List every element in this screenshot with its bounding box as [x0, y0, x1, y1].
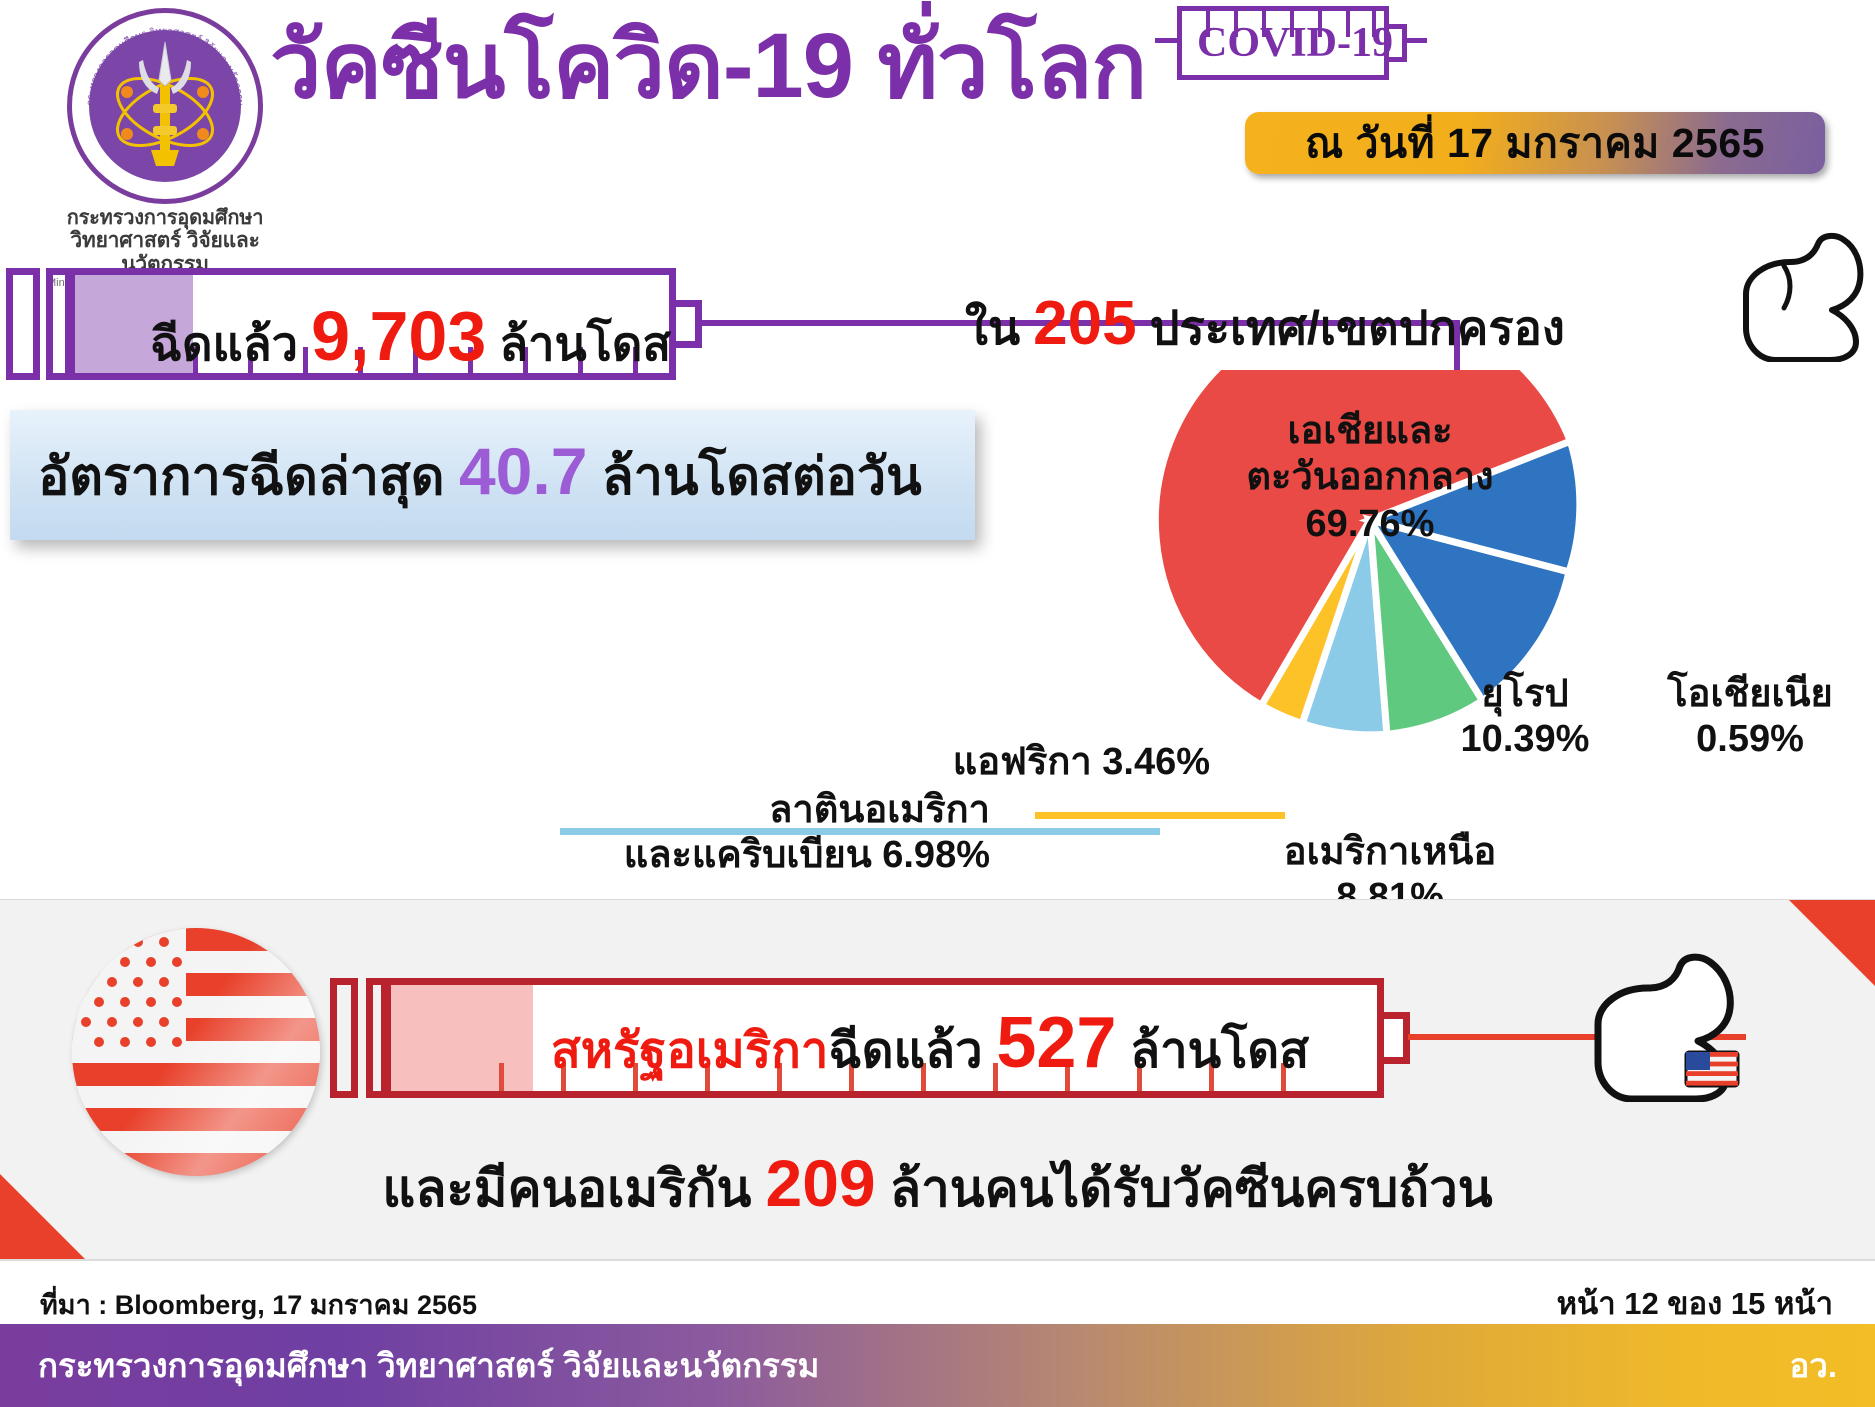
page-title: วัคซีนโควิด-19 ทั่วโลก: [270, 20, 1146, 112]
usa-doses-number: 527: [996, 1003, 1116, 1083]
pie-latam-line1: ลาตินอเมริกา: [530, 788, 990, 833]
footer-bar: กระทรวงการอุดมศึกษา วิทยาศาสตร์ วิจัยและ…: [0, 1324, 1875, 1407]
footer-bar-left-label: กระทรวงการอุดมศึกษา วิทยาศาสตร์ วิจัยและ…: [38, 1339, 819, 1392]
usa-syringe-plunger-flange-icon: [330, 978, 358, 1098]
pie-europe-name: ยุโรป: [1425, 672, 1625, 717]
countries-number: 205: [1033, 289, 1136, 358]
usa-doses-text: สหรัฐอเมริกาฉีดแล้ว 527 ล้านโดส: [480, 1002, 1380, 1089]
usa-doses-prefix: ฉีดแล้ว: [828, 1024, 982, 1078]
usa-fully-vaccinated-text: และมีคนอเมริกัน 209 ล้านคนได้รับวัคซีนคร…: [0, 1145, 1875, 1229]
pie-north-america-name: อเมริกาเหนือ: [1255, 830, 1525, 875]
ministry-seal-icon: กระทรวงการอุดมศึกษา วิทยาศาสตร์ วิจัยและ…: [67, 8, 263, 204]
pie-africa-leader-line: [1035, 812, 1285, 819]
usa-doses-suffix: ล้านโดส: [1130, 1024, 1309, 1078]
rate-prefix: อัตราการฉีดล่าสุด: [38, 448, 445, 506]
usa-flag-icon: [72, 928, 320, 1176]
rate-number: 40.7: [459, 434, 587, 508]
page-number: หน้า 12 ของ 15 หน้า: [1557, 1278, 1833, 1328]
infographic-page: กระทรวงการอุดมศึกษา วิทยาศาสตร์ วิจัยและ…: [0, 0, 1875, 1407]
usa-country-label: สหรัฐอเมริกา: [551, 1024, 829, 1078]
source-text: ที่มา : Bloomberg, 17 มกราคม 2565: [40, 1283, 477, 1326]
pie-europe-label: ยุโรป 10.39%: [1425, 672, 1625, 762]
pie-asia-line2: ตะวันออกกลาง: [1205, 454, 1535, 500]
global-doses-text: ฉีดแล้ว 9,703 ล้านโดส: [150, 296, 670, 381]
pie-asia-label: เอเชียและ ตะวันออกกลาง 69.76%: [1205, 408, 1535, 547]
countries-suffix: ประเทศ/เขตปกครอง: [1150, 301, 1565, 354]
vaccination-rate-box: อัตราการฉีดล่าสุด 40.7 ล้านโดสต่อวัน: [10, 410, 975, 540]
pie-asia-line1: เอเชียและ: [1205, 408, 1535, 454]
global-doses-suffix: ล้านโดส: [499, 317, 671, 370]
pie-asia-value: 69.76%: [1205, 501, 1535, 547]
countries-text: ใน 205 ประเทศ/เขตปกครอง: [965, 288, 1565, 365]
countries-prefix: ใน: [965, 301, 1020, 354]
pie-europe-value: 10.39%: [1425, 717, 1625, 762]
pie-oceania-name: โอเชียเนีย: [1645, 672, 1855, 717]
pie-latam-line2: และแคริบเบียน 6.98%: [530, 833, 990, 878]
usa-fully-prefix: และมีคนอเมริกัน: [382, 1160, 751, 1217]
corner-accent-top-right: [1789, 900, 1875, 986]
usa-fully-suffix: ล้านคนได้รับวัคซีนครบถ้วน: [890, 1160, 1493, 1217]
global-doses-number: 9,703: [311, 297, 486, 375]
usa-doses-syringe: สหรัฐอเมริกาฉีดแล้ว 527 ล้านโดส: [330, 968, 1450, 1108]
covid-badge-label: COVID-19: [1185, 22, 1405, 64]
vaccination-rate-text: อัตราการฉีดล่าสุด 40.7 ล้านโดสต่อวัน: [10, 433, 922, 517]
usa-section: สหรัฐอเมริกาฉีดแล้ว 527 ล้านโดส และมีคนอ…: [0, 900, 1875, 1260]
rate-suffix: ล้านโดสต่อวัน: [602, 448, 922, 506]
flexed-arm-icon: [1740, 232, 1875, 362]
seal-graphic-icon: กระทรวงการอุดมศึกษา วิทยาศาสตร์ วิจัยและ…: [67, 8, 263, 204]
pie-latam-leader-line: [560, 828, 1160, 835]
date-badge: ณ วันที่ 17 มกราคม 2565: [1245, 112, 1825, 174]
footer-divider: [0, 1259, 1875, 1261]
pie-africa-label: แอฟริกา 3.46%: [860, 740, 1210, 785]
syringe-plunger-flange-icon: [6, 268, 40, 380]
date-badge-label: ณ วันที่ 17 มกราคม 2565: [1305, 111, 1765, 176]
usa-flexed-arm-icon: [1590, 952, 1760, 1102]
pie-oceania-label: โอเชียเนีย 0.59%: [1645, 672, 1855, 762]
pie-oceania-value: 0.59%: [1645, 717, 1855, 762]
usa-syringe-neck-icon: [1384, 1012, 1410, 1064]
global-doses-prefix: ฉีดแล้ว: [150, 317, 298, 370]
usa-fully-number: 209: [766, 1146, 876, 1220]
footer-bar-right-label: อว.: [1789, 1339, 1837, 1392]
syringe-neck-icon: [676, 300, 702, 348]
covid-syringe-badge-icon: COVID-19: [1155, 2, 1425, 90]
logo-line-1: กระทรวงการอุดมศึกษา: [40, 207, 290, 229]
